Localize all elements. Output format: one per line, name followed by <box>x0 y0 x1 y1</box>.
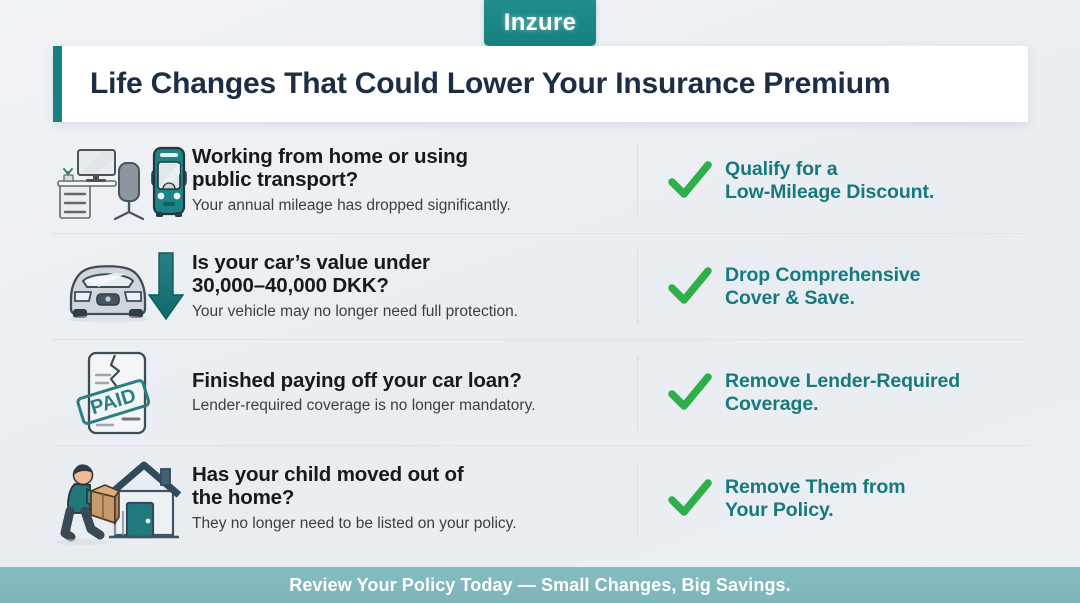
row-question-block: Working from home or using public transp… <box>192 145 637 217</box>
list-item: PAID Finished paying off your car loan? … <box>52 340 1028 446</box>
person-moving-out-of-house-icon <box>52 446 192 551</box>
row-benefit-line2: Low-Mileage Discount. <box>725 181 934 203</box>
row-benefit-block: Qualify for a Low-Mileage Discount. <box>638 158 1028 204</box>
row-question-block: Is your car’s value under 30,000–40,000 … <box>192 251 637 323</box>
row-benefit-line2: Coverage. <box>725 393 818 415</box>
row-benefit-line1: Remove Them from <box>725 476 905 498</box>
row-question-line1: Is your car’s value under <box>192 251 430 274</box>
row-question: Finished paying off your car loan? <box>192 369 613 393</box>
row-question-block: Has your child moved out of the home? Th… <box>192 463 637 535</box>
title-card: Life Changes That Could Lower Your Insur… <box>53 46 1028 122</box>
row-subtitle: Lender-required coverage is no longer ma… <box>192 396 613 416</box>
title-accent-bar <box>53 46 62 122</box>
row-subtitle: Your vehicle may no longer need full pro… <box>192 302 613 322</box>
footer-cta-text: Review Your Policy Today — Small Changes… <box>289 575 791 596</box>
row-benefit-line1: Drop Comprehensive <box>725 264 920 286</box>
row-benefit: Qualify for a Low-Mileage Discount. <box>725 158 934 204</box>
row-subtitle: They no longer need to be listed on your… <box>192 514 613 534</box>
green-check-icon <box>668 479 712 519</box>
green-check-icon <box>668 373 712 413</box>
list-item: Working from home or using public transp… <box>52 128 1028 234</box>
paid-document-stamp-icon: PAID <box>52 340 192 445</box>
green-check-icon <box>668 161 712 201</box>
rows-container: Working from home or using public transp… <box>0 128 1080 551</box>
row-benefit-line2: Your Policy. <box>725 499 834 521</box>
car-value-down-arrow-icon <box>52 234 192 339</box>
row-question: Is your car’s value under 30,000–40,000 … <box>192 251 613 299</box>
row-question-line1: Working from home or using <box>192 145 468 168</box>
infographic-page: Inzure Life Changes That Could Lower You… <box>0 0 1080 603</box>
row-benefit-block: Drop Comprehensive Cover & Save. <box>638 264 1028 310</box>
row-benefit: Drop Comprehensive Cover & Save. <box>725 264 920 310</box>
list-item: Has your child moved out of the home? Th… <box>52 446 1028 551</box>
footer-banner: Review Your Policy Today — Small Changes… <box>0 567 1080 603</box>
row-question-line1: Has your child moved out of <box>192 463 464 486</box>
row-benefit-line1: Qualify for a <box>725 158 837 180</box>
row-question-line2: 30,000–40,000 DKK? <box>192 274 389 297</box>
row-question-line2: the home? <box>192 486 294 509</box>
desk-and-bus-icon <box>52 128 192 233</box>
brand-logo-badge: Inzure <box>484 0 596 46</box>
row-question-block: Finished paying off your car loan? Lende… <box>192 369 637 417</box>
page-title: Life Changes That Could Lower Your Insur… <box>62 67 890 101</box>
row-question: Working from home or using public transp… <box>192 145 613 193</box>
row-benefit: Remove Them from Your Policy. <box>725 476 905 522</box>
list-item: Is your car’s value under 30,000–40,000 … <box>52 234 1028 340</box>
row-question: Has your child moved out of the home? <box>192 463 613 511</box>
row-benefit-line2: Cover & Save. <box>725 287 855 309</box>
row-benefit-block: Remove Lender-Required Coverage. <box>638 370 1028 416</box>
row-benefit: Remove Lender-Required Coverage. <box>725 370 960 416</box>
row-benefit-line1: Remove Lender-Required <box>725 370 960 392</box>
green-check-icon <box>668 267 712 307</box>
brand-logo-text: Inzure <box>504 9 576 37</box>
row-question-line2: public transport? <box>192 168 358 191</box>
row-benefit-block: Remove Them from Your Policy. <box>638 476 1028 522</box>
row-subtitle: Your annual mileage has dropped signific… <box>192 196 613 216</box>
